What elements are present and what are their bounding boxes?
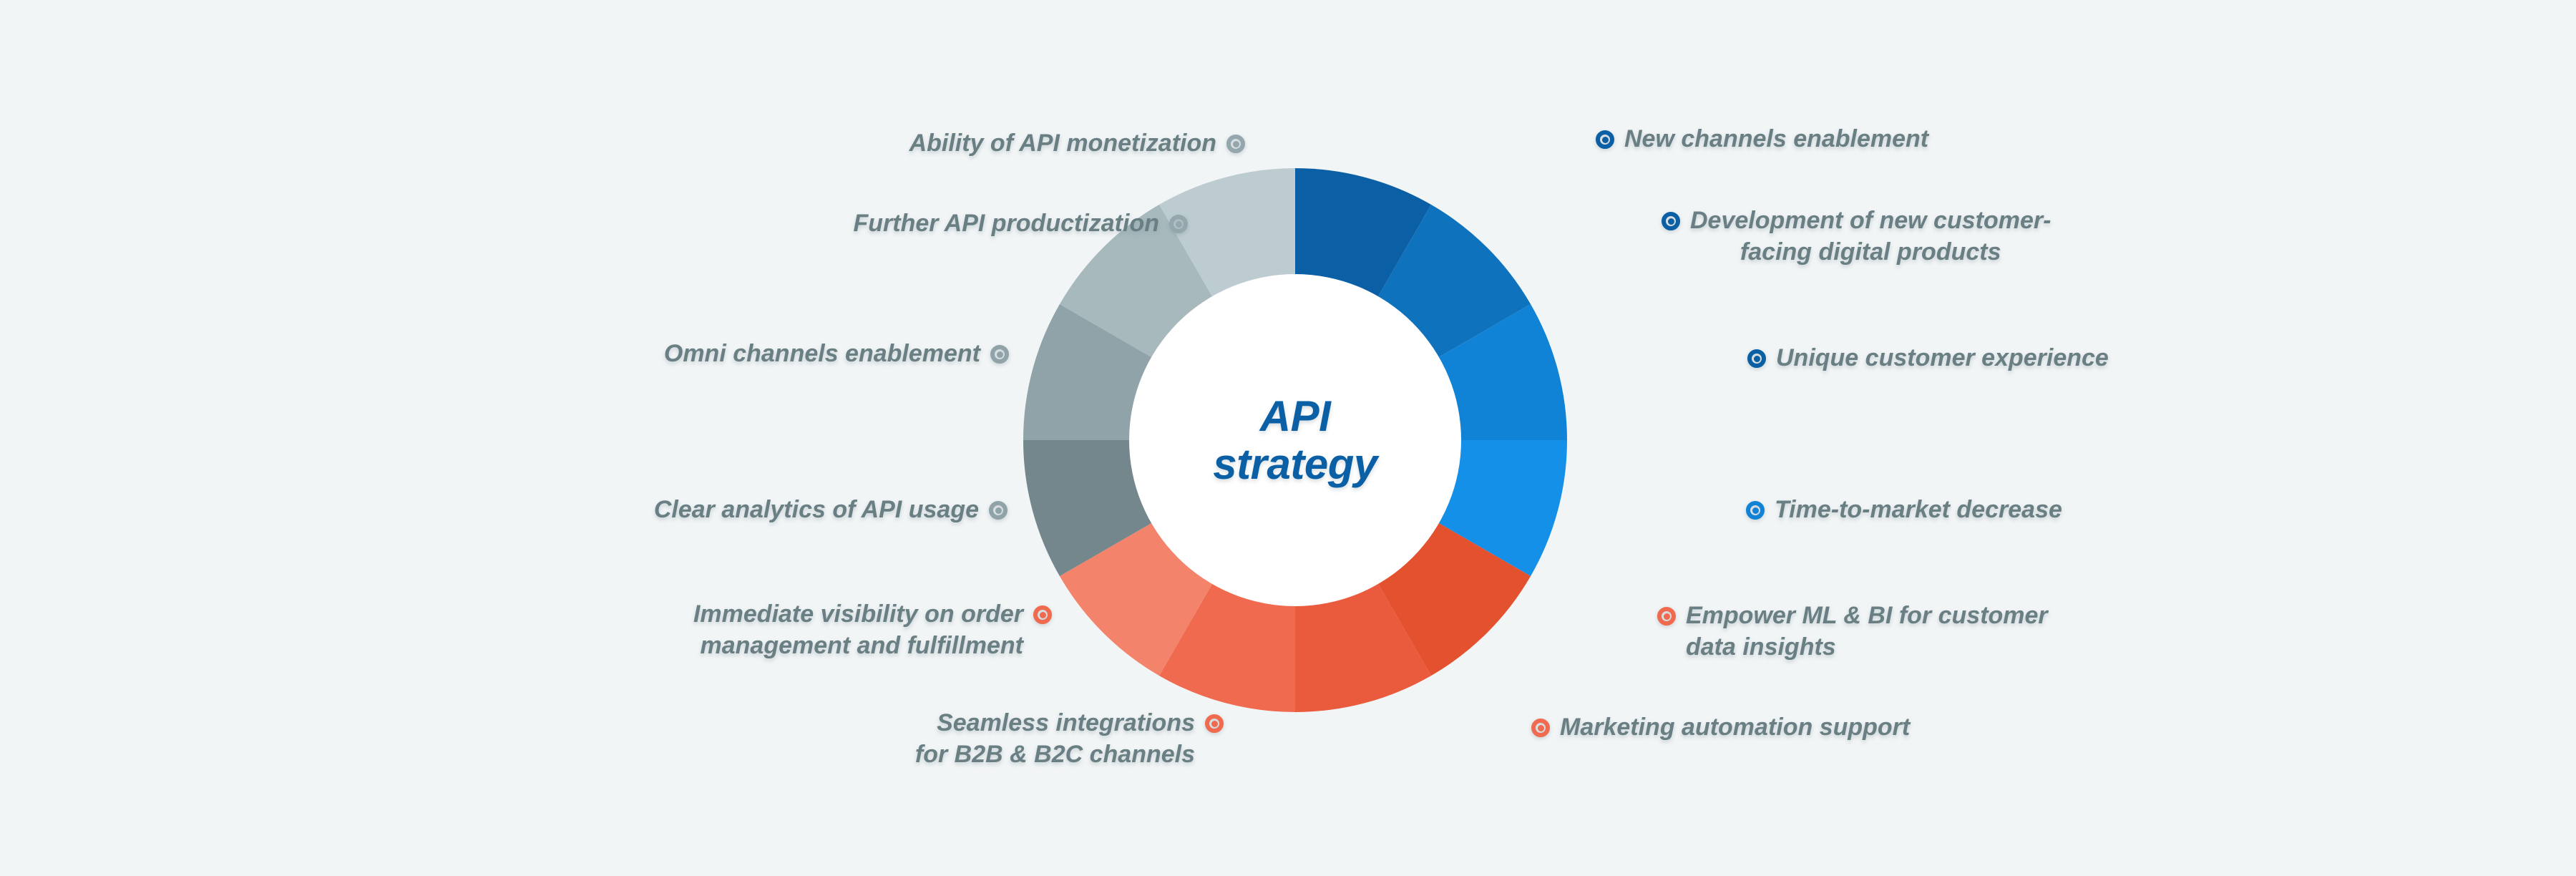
label-unique-customer-experience[interactable]: Unique customer experience — [1747, 342, 2109, 374]
target-icon — [1746, 501, 1765, 520]
label-text: Clear analytics of API usage — [654, 494, 979, 525]
api-strategy-donut-chart — [1023, 168, 1567, 712]
donut-inner-circle — [1129, 274, 1461, 606]
label-time-to-market-decrease[interactable]: Time-to-market decrease — [1746, 494, 2062, 525]
target-icon — [1169, 215, 1188, 233]
target-icon — [1596, 130, 1614, 149]
target-icon — [1033, 605, 1052, 624]
target-icon — [1747, 349, 1766, 368]
label-text: Empower ML & BI for customer data insigh… — [1686, 600, 2048, 663]
label-seamless-integrations-b2b-b2c-channels[interactable]: Seamless integrations for B2B & B2C chan… — [823, 707, 1224, 770]
target-icon — [1662, 212, 1680, 230]
label-text: Marketing automation support — [1560, 711, 1910, 743]
label-text: Immediate visibility on order management… — [693, 598, 1023, 661]
target-icon — [1657, 607, 1676, 626]
label-text: Ability of API monetization — [909, 127, 1216, 159]
label-text: Time-to-market decrease — [1775, 494, 2062, 525]
target-icon — [1226, 135, 1245, 153]
label-omni-channels-enablement[interactable]: Omni channels enablement — [530, 338, 1009, 369]
label-text: Unique customer experience — [1776, 342, 2109, 374]
label-new-channels-enablement[interactable]: New channels enablement — [1596, 123, 1928, 155]
label-further-api-productization[interactable]: Further API productization — [623, 208, 1188, 239]
label-development-new-customer-facing-digital-products[interactable]: Development of new customer- facing digi… — [1662, 205, 2051, 268]
target-icon — [1205, 714, 1224, 733]
label-text: Further API productization — [853, 208, 1159, 239]
label-marketing-automation-support[interactable]: Marketing automation support — [1531, 711, 1910, 743]
label-ability-of-api-monetization[interactable]: Ability of API monetization — [751, 127, 1245, 159]
label-text: Omni channels enablement — [664, 338, 980, 369]
target-icon — [989, 501, 1008, 520]
target-icon — [1531, 719, 1550, 737]
target-icon — [990, 345, 1009, 364]
label-immediate-visibility-order-management-fulfillment[interactable]: Immediate visibility on order management… — [565, 598, 1052, 661]
donut-svg — [1023, 168, 1567, 712]
label-clear-analytics-of-api-usage[interactable]: Clear analytics of API usage — [521, 494, 1008, 525]
label-text: New channels enablement — [1624, 123, 1928, 155]
label-text: Seamless integrations for B2B & B2C chan… — [915, 707, 1195, 770]
label-empower-ml-bi-customer-data-insights[interactable]: Empower ML & BI for customer data insigh… — [1657, 600, 2048, 663]
label-text: Development of new customer- facing digi… — [1690, 205, 2051, 268]
infographic-canvas: API strategy New channels enablement Dev… — [0, 0, 2576, 876]
